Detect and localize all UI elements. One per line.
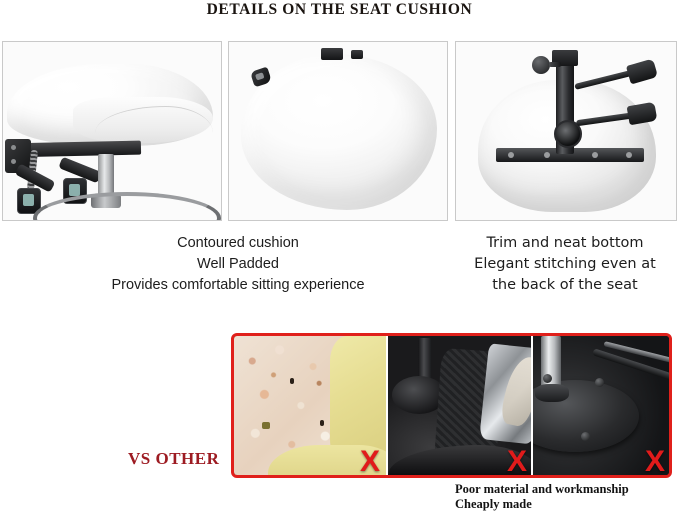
detail-photo-row — [0, 41, 679, 223]
comparison-cell-base-plate: X — [531, 336, 671, 475]
product-detail-image: DETAILS ON THE SEAT CUSHION — [0, 0, 679, 513]
vs-other-label: VS OTHER — [128, 449, 219, 469]
competitor-comparison-frame: X X X — [231, 333, 672, 478]
foam-speck — [262, 422, 270, 429]
competitor-footnote-line-1: Poor material and workmanship — [455, 482, 679, 497]
comparison-cell-rebonded-foam: X — [234, 336, 386, 475]
foam-speck — [320, 420, 324, 426]
seat-top-view-illustration — [229, 42, 447, 220]
mount-clip-secondary — [351, 50, 363, 59]
caption-left-line-1: Contoured cushion — [62, 233, 414, 254]
seat-side-view-illustration — [3, 42, 221, 220]
seat-bottom-view-illustration — [456, 42, 676, 220]
cylinder-collar — [535, 384, 569, 402]
caption-left-line-3: Provides comfortable sitting experience — [62, 275, 414, 296]
x-mark-icon: X — [645, 447, 665, 475]
caption-right: Trim and neat bottom Elegant stitching e… — [452, 233, 678, 296]
caption-right-line-3: the back of the seat — [452, 275, 678, 296]
page-title: DETAILS ON THE SEAT CUSHION — [0, 1, 679, 19]
competitor-footnote-line-2: Cheaply made — [455, 497, 679, 512]
adjustment-bolt — [532, 56, 550, 74]
screw-icon — [581, 432, 590, 441]
photo-panel-seat-top-view — [228, 41, 448, 221]
screw-icon — [543, 374, 552, 383]
paddle-upper — [626, 59, 658, 85]
x-mark-icon: X — [360, 447, 380, 475]
paddle-lower — [627, 102, 658, 126]
mount-clip-primary — [321, 48, 343, 60]
foam-speck — [290, 378, 294, 384]
chrome-foot-ring — [33, 192, 221, 220]
caption-left-line-2: Well Padded — [62, 254, 414, 275]
photo-panel-seat-bottom-view — [455, 41, 677, 221]
competitor-footnote: Poor material and workmanship Cheaply ma… — [455, 482, 679, 512]
comparison-cell-torn-underside: X — [386, 336, 533, 475]
caption-right-line-2: Elegant stitching even at — [452, 254, 678, 275]
screw-icon — [595, 378, 604, 387]
caption-left: Contoured cushion Well Padded Provides c… — [62, 233, 414, 296]
photo-panel-seat-side-view — [2, 41, 222, 221]
base-spoke — [592, 348, 671, 382]
caption-right-line-1: Trim and neat bottom — [452, 233, 678, 254]
x-mark-icon: X — [507, 447, 527, 475]
